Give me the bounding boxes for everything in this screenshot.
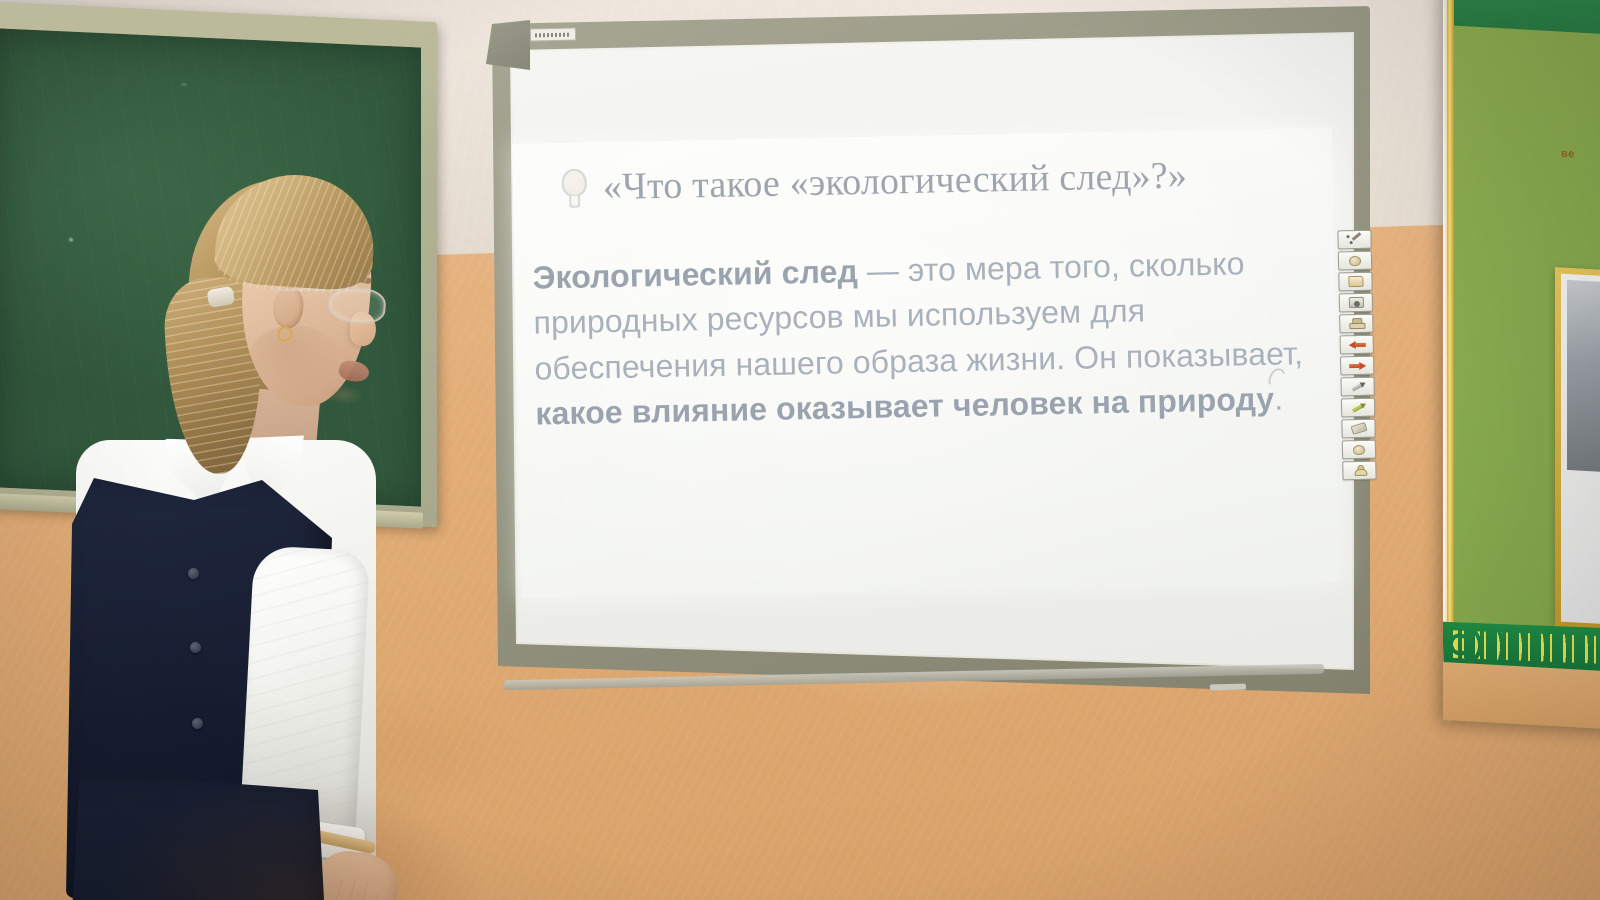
- slide-body: Экологический след — это мера того, скол…: [532, 240, 1327, 438]
- screen-capture-icon[interactable]: [1339, 293, 1373, 313]
- chin-shadow: [323, 383, 364, 406]
- slide-term-bold: Экологический след: [532, 253, 858, 296]
- projected-slide: «Что такое «экологический след»?» Эколог…: [512, 128, 1341, 599]
- hair-strands: [213, 170, 379, 297]
- highlighter-icon[interactable]: [1341, 398, 1375, 418]
- info-board-bottom-wall: [1443, 662, 1600, 730]
- spotlight-icon[interactable]: [1338, 251, 1372, 271]
- smartboard-toolbar[interactable]: [1337, 230, 1378, 481]
- info-board-top-strip: [1443, 0, 1600, 35]
- arrow-back-icon[interactable]: [1340, 335, 1374, 355]
- slide-title-text: «Что такое «экологический след»?»: [602, 154, 1187, 209]
- folder-icon[interactable]: [1338, 272, 1372, 292]
- slide-title: «Что такое «экологический след»?»: [558, 152, 1311, 211]
- info-board-poster: [1555, 267, 1600, 634]
- vest-button: [188, 568, 199, 579]
- slide-emphasis-bold: какое влияние оказывает человек на приро…: [535, 381, 1275, 432]
- poster-photo: [1567, 280, 1600, 475]
- chalk-mark: [181, 83, 187, 86]
- stamp-icon[interactable]: [1339, 314, 1373, 334]
- classroom-scene: «Что такое «экологический след»?» Эколог…: [0, 0, 1600, 900]
- info-board-text: ве: [1561, 148, 1600, 164]
- head: [182, 168, 377, 426]
- floor-shadow: [100, 780, 480, 900]
- whiteboard-corner-bracket: [486, 18, 530, 70]
- vest-button: [190, 642, 201, 653]
- eraser-icon[interactable]: [1341, 419, 1375, 439]
- arrow-forward-icon[interactable]: [1340, 356, 1374, 376]
- shape-icon[interactable]: [1342, 440, 1376, 460]
- interactive-whiteboard[interactable]: «Что такое «экологический след»?» Эколог…: [470, 6, 1370, 706]
- person-stamp-icon[interactable]: [1342, 461, 1376, 481]
- board-brand-label: [530, 28, 576, 42]
- info-board-gold-trim: [1447, 0, 1454, 721]
- magic-wand-icon[interactable]: [1337, 230, 1371, 250]
- vest-button: [192, 718, 203, 729]
- information-board: ве: [1443, 0, 1600, 730]
- lightbulb-icon: [559, 168, 590, 209]
- pen-icon[interactable]: [1340, 377, 1374, 397]
- whiteboard-tray-clip: [1210, 684, 1246, 691]
- student-presenter: [60, 128, 420, 900]
